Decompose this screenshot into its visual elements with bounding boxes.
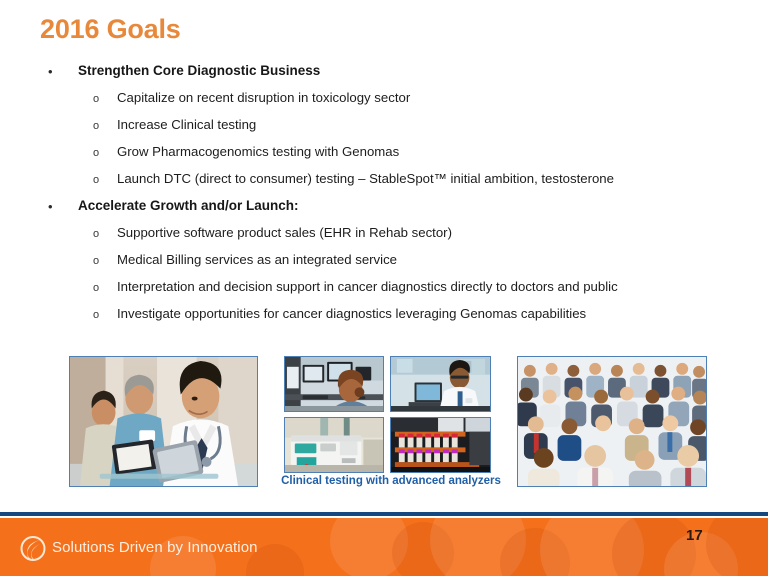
photo-lab-workstation-art [285,357,383,412]
sub-bullet-item: o Medical Billing services as an integra… [0,251,768,278]
sub-bullet-text: Medical Billing services as an integrate… [117,251,397,269]
page-number: 17 [686,527,703,544]
sub-bullet-item: o Launch DTC (direct to consumer) testin… [0,170,768,197]
bullet-marker-icon: • [48,200,53,214]
photo-clinical-staff-art [70,357,257,487]
page-title: 2016 Goals [40,14,181,45]
photo-diverse-crowd-art [518,357,706,487]
decor-circle [540,518,644,576]
sub-bullet-marker-icon: o [93,280,99,296]
photo-diverse-crowd [517,356,707,487]
sub-bullet-text: Investigate opportunities for cancer dia… [117,305,586,323]
photo-scientist-terminal [390,356,491,412]
decor-circle [330,518,408,576]
photo-analyzer-machine-art [285,418,383,473]
sub-bullet-item: o Interpretation and decision support in… [0,278,768,305]
photo-analyzer-machine [284,417,384,473]
sub-bullet-text: Supportive software product sales (EHR i… [117,224,452,242]
photo-sample-tubes-art [391,418,490,473]
sub-bullet-marker-icon: o [93,226,99,242]
sub-bullet-marker-icon: o [93,172,99,188]
company-swirl-logo-icon [20,535,46,562]
photo-lab-workstation [284,356,384,412]
bullet-content: • Strengthen Core Diagnostic Business o … [0,62,768,332]
sub-bullet-item: o Supportive software product sales (EHR… [0,224,768,251]
bullet-marker-icon: • [48,65,53,79]
sub-bullet-item: o Increase Clinical testing [0,116,768,143]
sub-bullet-marker-icon: o [93,145,99,161]
sub-bullet-item: o Investigate opportunities for cancer d… [0,305,768,332]
bullet-heading-text: Strengthen Core Diagnostic Business [78,62,320,80]
decor-circle [500,528,570,576]
sub-bullet-text: Grow Pharmacogenomics testing with Genom… [117,143,399,161]
sub-bullet-text: Increase Clinical testing [117,116,256,134]
photo-clinical-staff [69,356,258,487]
sub-bullet-item: o Grow Pharmacogenomics testing with Gen… [0,143,768,170]
photo-scientist-terminal-art [391,357,490,412]
decor-circle [612,518,696,576]
slide-canvas: 2016 Goals • Strengthen Core Diagnostic … [0,0,768,576]
bullet-heading-2: • Accelerate Growth and/or Launch: [0,197,768,224]
photo-sample-tubes [390,417,491,473]
sub-bullet-marker-icon: o [93,91,99,107]
sub-bullet-text: Launch DTC (direct to consumer) testing … [117,170,614,188]
decor-circle [706,518,768,576]
footer-tagline: Solutions Driven by Innovation [52,539,258,556]
sub-bullet-marker-icon: o [93,253,99,269]
image-caption: Clinical testing with advanced analyzers [276,475,506,487]
sub-bullet-text: Capitalize on recent disruption in toxic… [117,89,410,107]
sub-bullet-item: o Capitalize on recent disruption in tox… [0,89,768,116]
decor-circle [430,518,526,576]
sub-bullet-text: Interpretation and decision support in c… [117,278,618,296]
bullet-heading-1: • Strengthen Core Diagnostic Business [0,62,768,89]
sub-bullet-marker-icon: o [93,118,99,134]
decor-circle [392,522,454,576]
sub-bullet-marker-icon: o [93,307,99,323]
bullet-heading-text: Accelerate Growth and/or Launch: [78,197,299,215]
